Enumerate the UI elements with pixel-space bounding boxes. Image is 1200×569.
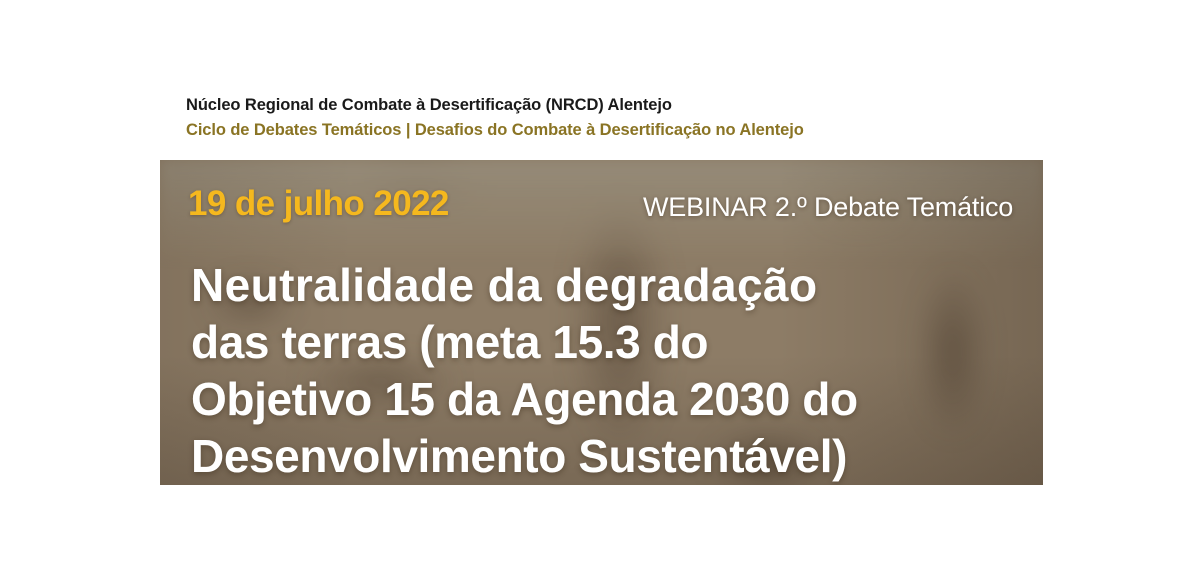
debate-series-subtitle: Ciclo de Debates Temáticos | Desafios do…	[186, 119, 1026, 141]
event-date: 19 de julho 2022	[188, 184, 449, 224]
poster-page: Núcleo Regional de Combate à Desertifica…	[0, 0, 1200, 569]
organisation-title: Núcleo Regional de Combate à Desertifica…	[186, 94, 1026, 116]
event-title-line-4: Desenvolvimento Sustentável)	[191, 428, 1021, 485]
event-type-label: WEBINAR 2.º Debate Temático	[643, 190, 1013, 224]
event-title-line-3: Objetivo 15 da Agenda 2030 do	[191, 371, 1021, 428]
event-banner: 19 de julho 2022 WEBINAR 2.º Debate Temá…	[160, 160, 1043, 485]
banner-content: 19 de julho 2022 WEBINAR 2.º Debate Temá…	[160, 160, 1043, 485]
event-title-line-1: Neutralidade da degradação	[191, 257, 1021, 314]
event-title: Neutralidade da degradação das terras (m…	[191, 257, 1021, 485]
event-title-line-2: das terras (meta 15.3 do	[191, 314, 1021, 371]
header-block: Núcleo Regional de Combate à Desertifica…	[186, 94, 1026, 141]
